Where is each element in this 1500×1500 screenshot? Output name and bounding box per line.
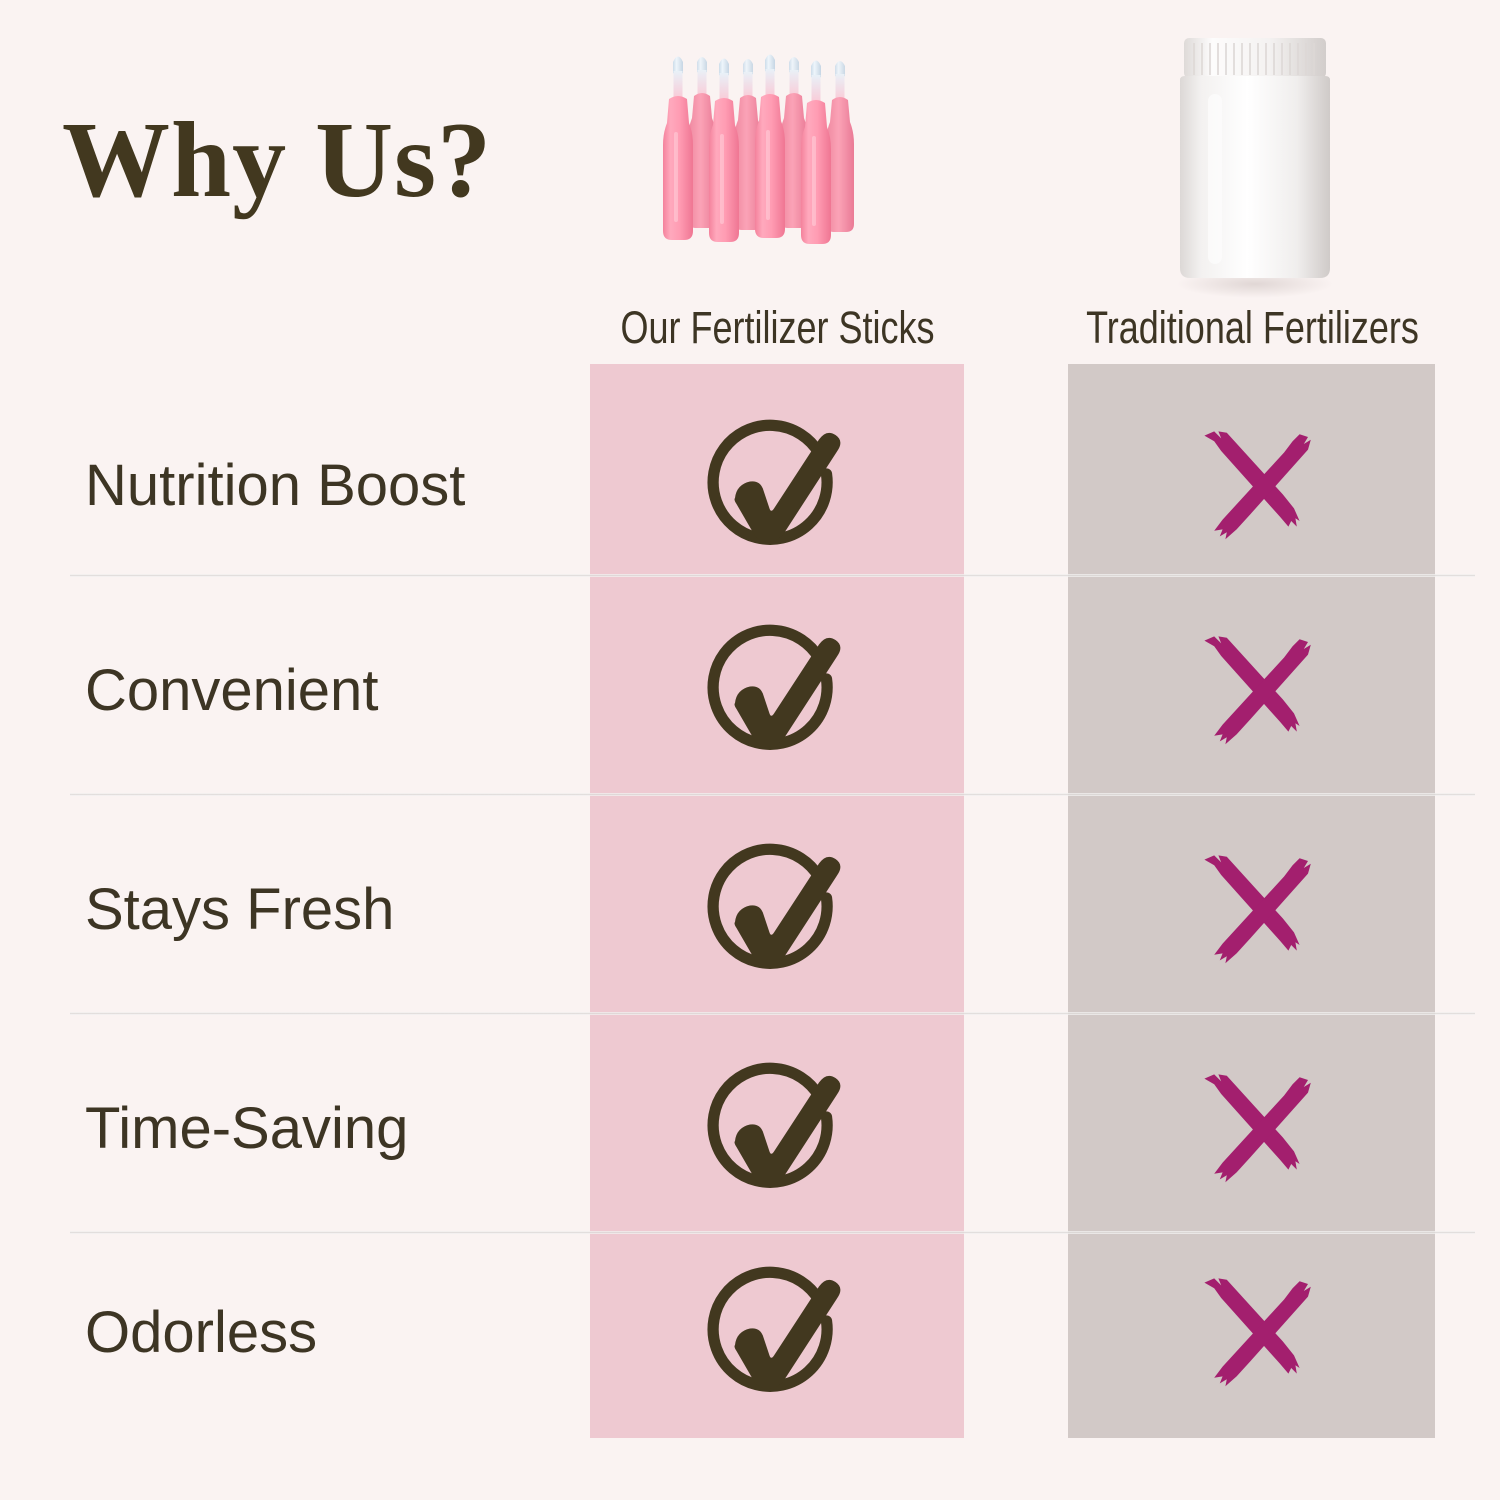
circled-check-icon — [702, 835, 852, 985]
table-row: Time-Saving — [0, 1021, 1500, 1236]
cell-traditional — [1068, 583, 1435, 798]
brush-cross-icon — [1182, 1059, 1322, 1199]
brush-cross-icon — [1182, 840, 1322, 980]
row-label: Stays Fresh — [85, 878, 394, 942]
product-image-traditional-jar — [1160, 28, 1350, 298]
page-title: Why Us? — [62, 104, 492, 217]
table-row: Convenient — [0, 583, 1500, 798]
cell-traditional — [1068, 802, 1435, 1017]
cell-ours — [590, 583, 964, 798]
brush-cross-icon — [1182, 416, 1322, 556]
product-image-fertilizer-sticks — [655, 32, 905, 292]
circled-check-icon — [702, 1054, 852, 1204]
row-label: Nutrition Boost — [85, 454, 465, 518]
table-row: Stays Fresh — [0, 802, 1500, 1017]
circled-check-icon — [702, 411, 852, 561]
cell-traditional — [1068, 378, 1435, 593]
column-header-traditional-fertilizers: Traditional Fertilizers — [1043, 300, 1463, 356]
brush-cross-icon — [1182, 1263, 1322, 1403]
row-divider — [70, 1012, 1475, 1015]
cell-ours — [590, 802, 964, 1017]
cell-ours — [590, 1021, 964, 1236]
row-divider — [70, 574, 1475, 577]
cell-traditional — [1068, 1225, 1435, 1440]
brush-cross-icon — [1182, 621, 1322, 761]
row-divider — [70, 793, 1475, 796]
cell-traditional — [1068, 1021, 1435, 1236]
cell-ours — [590, 378, 964, 593]
row-label: Convenient — [85, 659, 378, 723]
circled-check-icon — [702, 616, 852, 766]
comparison-infographic: Why Us? — [0, 0, 1500, 1500]
cell-ours — [590, 1225, 964, 1440]
table-row: Odorless — [0, 1225, 1500, 1440]
circled-check-icon — [702, 1258, 852, 1408]
column-header-our-fertilizer-sticks: Our Fertilizer Sticks — [568, 300, 988, 356]
row-label: Odorless — [85, 1301, 317, 1365]
row-label: Time-Saving — [85, 1097, 408, 1161]
table-row: Nutrition Boost — [0, 378, 1500, 593]
